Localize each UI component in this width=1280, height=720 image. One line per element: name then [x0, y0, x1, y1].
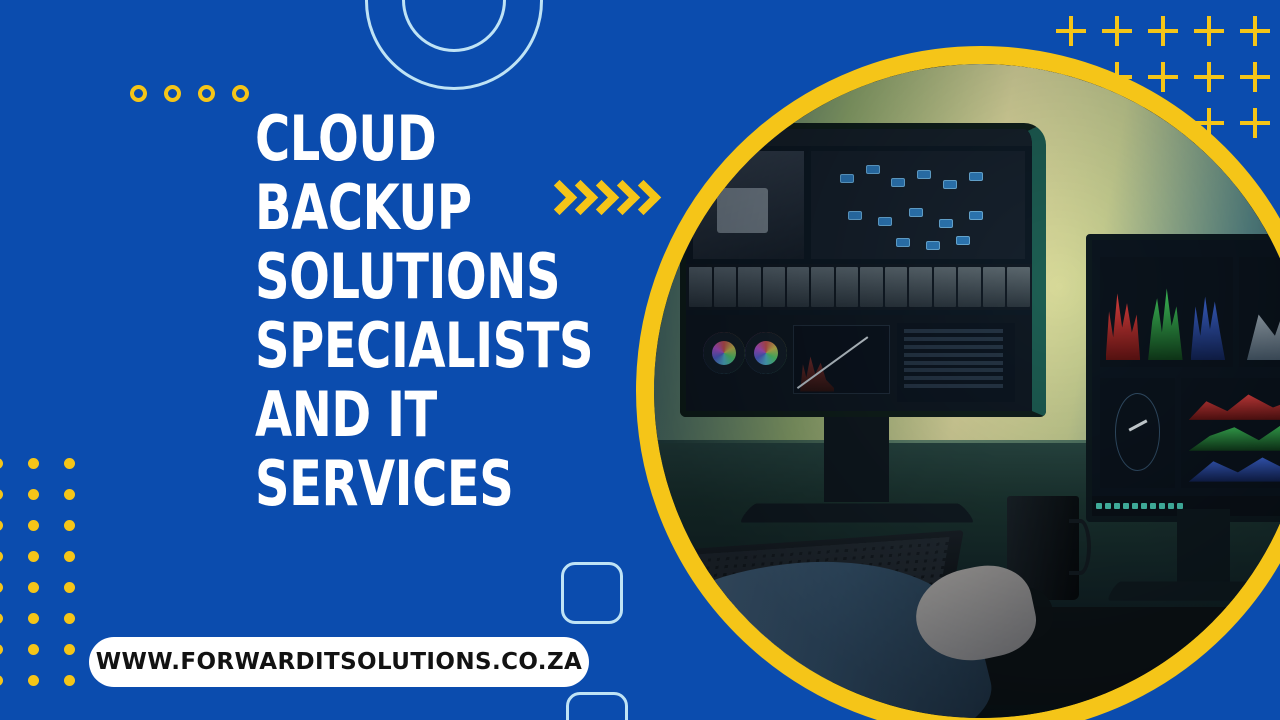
website-url-pill[interactable]: WWW.FORWARDITSOLUTIONS.CO.ZA — [89, 637, 589, 687]
chevron-right-icon — [546, 181, 647, 217]
rounded-square-outline-icon-top — [561, 562, 623, 624]
outline-circle-1 — [130, 85, 147, 102]
headline-line-4: SPECIALISTS — [255, 311, 539, 380]
headline-line-3: SOLUTIONS — [255, 242, 539, 311]
headline-line-1: CLOUD — [255, 104, 539, 173]
concentric-rings-icon — [365, 0, 543, 90]
rounded-square-outline-icon-bottom — [566, 692, 628, 720]
website-url-label: WWW.FORWARDITSOLUTIONS.CO.ZA — [96, 649, 582, 675]
outline-circle-2 — [164, 85, 181, 102]
page-title: CLOUD BACKUP SOLUTIONS SPECIALISTS AND I… — [255, 104, 539, 518]
promo-banner: CLOUD BACKUP SOLUTIONS SPECIALISTS AND I… — [0, 0, 1280, 720]
outline-circle-3 — [198, 85, 215, 102]
headline-line-6: SERVICES — [255, 449, 539, 518]
headline-line-2: BACKUP — [255, 173, 539, 242]
workstation-photo — [654, 64, 1280, 718]
outline-circles-icon — [130, 85, 249, 102]
dot-grid-icon — [0, 458, 100, 706]
concentric-ring-inner-icon — [402, 0, 506, 52]
headline-line-5: AND IT — [255, 380, 539, 449]
hero-photo-circle — [636, 46, 1280, 720]
outline-circle-4 — [232, 85, 249, 102]
